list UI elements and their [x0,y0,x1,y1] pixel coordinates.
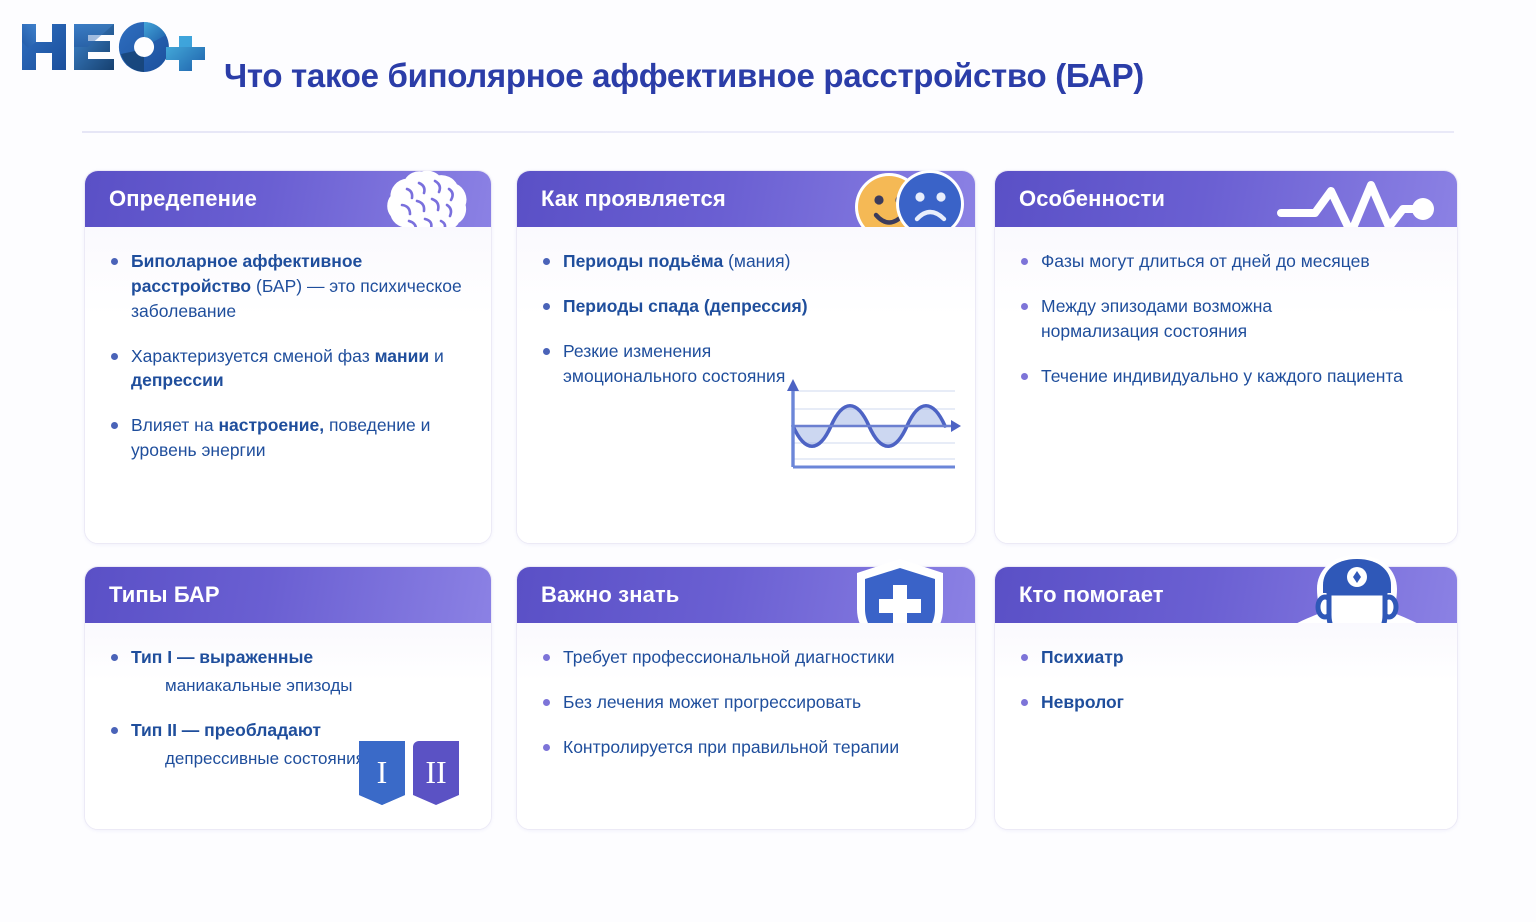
title-divider [82,131,1454,133]
card-features: Особенности Фазы могут длиться от дней д… [994,170,1458,544]
bullet-rest: (мания) [723,251,790,271]
bullet-bold: Периоды спада (депрессия) [563,296,808,316]
card-title: Типы БАР [109,582,220,608]
bullet-mid: и [429,346,444,366]
list-item: Требует профессиональной диагностики [541,645,951,670]
card-header: Важно знать [517,567,975,623]
card-types: Типы БАР Тип I — выраженные маниакальные… [84,566,492,830]
card-body: Фазы могут длиться от дней до месяцев Ме… [995,227,1457,543]
bullet-list: Фазы могут длиться от дней до месяцев Ме… [1019,249,1433,388]
bullet-plain: Без лечения может прогрессировать [563,692,861,712]
bullet-list: Биполарное аффективное расстройство (БАР… [109,249,467,463]
brand-logo [18,18,208,80]
list-item: Невролог [1019,690,1433,715]
card-important: Важно знать Требует профессиональной диа… [516,566,976,830]
card-title: Кто помогает [1019,582,1164,608]
card-title: Как проявляется [541,186,726,212]
card-definition: Опредепение Биполарное аффективное расст… [84,170,492,544]
bullet-plain: Контролируется при правильной терапии [563,737,899,757]
card-who-helps: Кто помогает [994,566,1458,830]
list-item: Резкие изменения эмоционального состояни… [541,339,813,389]
list-item: Фазы могут длиться от дней до месяцев [1019,249,1433,274]
bullet-plain: Требует профессиональной диагностики [563,647,895,667]
mood-wave-chart [775,375,961,471]
bullet-bold: Невролог [1041,692,1124,712]
card-title: Особенности [1019,186,1165,212]
card-body: Тип I — выраженные маниакальные эпизоды … [85,623,491,829]
bullet-plain: Резкие изменения эмоционального состояни… [563,341,785,386]
bullet-plain: Между эпизодами возможна нормализация со… [1041,296,1272,341]
card-title: Опредепение [109,186,257,212]
bullet-bold: Тип I — выраженные [131,647,313,667]
list-item: Влияет на настроение, поведение и уровен… [109,413,467,463]
list-item: Биполарное аффективное расстройство (БАР… [109,249,467,324]
bullet-bold-2: депрессии [131,370,224,390]
card-symptoms: Как проявляется Периоды подьёма (мания) [516,170,976,544]
badge-label-1: I [377,754,388,790]
card-body: Периоды подьёма (мания) Периоды спада (д… [517,227,975,543]
list-item: Периоды спада (депрессия) [541,294,951,319]
card-header: Кто помогает [995,567,1457,623]
list-item: Без лечения может прогрессировать [541,690,951,715]
bullet-plain: Фазы могут длиться от дней до месяцев [1041,251,1370,271]
bullet-list: Периоды подьёма (мания) Периоды спада (д… [541,249,951,388]
bullet-list: Психиатр Невролог [1019,645,1433,715]
bullet-pre: Характеризуется сменой фаз [131,346,375,366]
list-item: Характеризуется сменой фаз мании и депре… [109,344,467,394]
bullet-bold: мании [375,346,430,366]
badge-label-2: II [425,754,446,790]
neo-plus-logo-icon [18,18,208,80]
list-item: Тип I — выраженные маниакальные эпизоды [109,645,467,698]
card-title: Важно знать [541,582,679,608]
card-header: Как проявляется [517,171,975,227]
card-body: Требует профессиональной диагностики Без… [517,623,975,829]
card-header: Особенности [995,171,1457,227]
bullet-bold: Тип II — преобладают [131,720,321,740]
infographic-page: Что такое биполярное аффективное расстро… [0,0,1536,922]
bullet-bold: Периоды подьёма [563,251,723,271]
list-item: Течение индивидуально у каждого пациента [1019,364,1433,389]
bullet-plain: Течение индивидуально у каждого пациента [1041,366,1403,386]
page-title: Что такое биполярное аффективное расстро… [224,57,1144,95]
card-body: Психиатр Невролог [995,623,1457,829]
list-item: Периоды подьёма (мания) [541,249,951,274]
bullet-pre: Влияет на [131,415,218,435]
card-header: Типы БАР [85,567,491,623]
bullet-list: Требует профессиональной диагностики Без… [541,645,951,760]
list-item: Психиатр [1019,645,1433,670]
card-body: Биполарное аффективное расстройство (БАР… [85,227,491,543]
bullet-bold: настроение, [218,415,324,435]
bullet-subline: маниакальные эпизоды [165,674,467,698]
roman-numerals-icon: I II [353,735,465,807]
list-item: Контролируется при правильной терапии [541,735,951,760]
card-header: Опредепение [85,171,491,227]
bullet-bold: Психиатр [1041,647,1124,667]
list-item: Между эпизодами возможна нормализация со… [1019,294,1341,344]
